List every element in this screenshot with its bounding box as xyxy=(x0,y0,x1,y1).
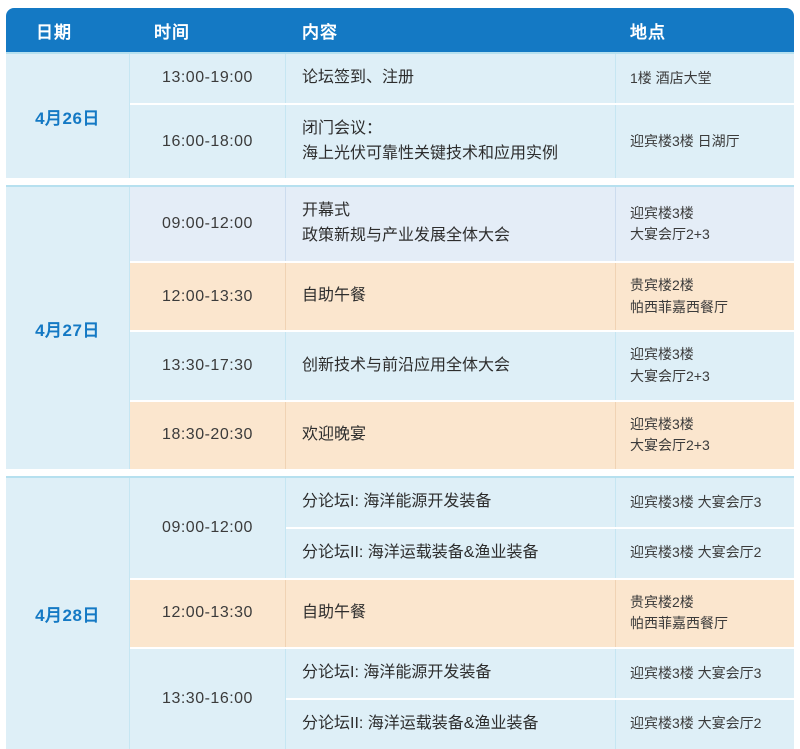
location-cell: 贵宾楼2楼 帕西菲嘉西餐厅 xyxy=(616,263,794,330)
schedule-row: 09:00-12:00开幕式 政策新规与产业发展全体大会迎宾楼3楼 大宴会厅2+… xyxy=(130,187,794,261)
session-row: 开幕式 政策新规与产业发展全体大会迎宾楼3楼 大宴会厅2+3 xyxy=(286,187,794,261)
content-label: 欢迎晚宴 xyxy=(302,423,366,448)
location-label: 贵宾楼2楼 帕西菲嘉西餐厅 xyxy=(630,275,728,318)
date-label: 4月26日 xyxy=(35,104,100,129)
column-header-time: 时间 xyxy=(130,18,286,43)
schedule-row: 18:30-20:30欢迎晚宴迎宾楼3楼 大宴会厅2+3 xyxy=(130,400,794,469)
time-label: 12:00-13:30 xyxy=(162,604,253,622)
location-cell: 迎宾楼3楼 大宴会厅3 xyxy=(616,649,794,698)
table-header-row: 日期 时间 内容 地点 xyxy=(6,8,794,52)
session-row: 分论坛I: 海洋能源开发装备迎宾楼3楼 大宴会厅3 xyxy=(286,649,794,698)
day-group: 4月27日09:00-12:00开幕式 政策新规与产业发展全体大会迎宾楼3楼 大… xyxy=(6,185,794,469)
time-label: 13:00-19:00 xyxy=(162,69,253,87)
date-cell: 4月28日 xyxy=(6,478,130,749)
session-list: 论坛签到、注册1楼 酒店大堂 xyxy=(286,54,794,103)
content-cell: 论坛签到、注册 xyxy=(286,54,616,103)
location-cell: 1楼 酒店大堂 xyxy=(616,54,794,103)
session-list: 分论坛I: 海洋能源开发装备迎宾楼3楼 大宴会厅3分论坛II: 海洋运载装备&渔… xyxy=(286,478,794,578)
time-cell: 09:00-12:00 xyxy=(130,478,286,578)
session-list: 欢迎晚宴迎宾楼3楼 大宴会厅2+3 xyxy=(286,402,794,469)
schedule-row: 13:00-19:00论坛签到、注册1楼 酒店大堂 xyxy=(130,54,794,103)
content-cell: 分论坛II: 海洋运载装备&渔业装备 xyxy=(286,529,616,578)
date-cell: 4月27日 xyxy=(6,187,130,469)
table-body: 4月26日13:00-19:00论坛签到、注册1楼 酒店大堂16:00-18:0… xyxy=(6,52,794,749)
time-cell: 16:00-18:00 xyxy=(130,105,286,179)
location-cell: 迎宾楼3楼 大宴会厅2+3 xyxy=(616,402,794,469)
content-cell: 闭门会议： 海上光伏可靠性关键技术和应用实例 xyxy=(286,105,616,179)
day-rows: 09:00-12:00分论坛I: 海洋能源开发装备迎宾楼3楼 大宴会厅3分论坛I… xyxy=(130,478,794,749)
column-header-date: 日期 xyxy=(6,18,130,43)
time-cell: 13:30-16:00 xyxy=(130,649,286,749)
day-rows: 13:00-19:00论坛签到、注册1楼 酒店大堂16:00-18:00闭门会议… xyxy=(130,54,794,178)
location-cell: 迎宾楼3楼 大宴会厅2 xyxy=(616,700,794,749)
location-cell: 迎宾楼3楼 大宴会厅2+3 xyxy=(616,187,794,261)
content-cell: 自助午餐 xyxy=(286,580,616,647)
location-label: 迎宾楼3楼 大宴会厅2+3 xyxy=(630,414,710,457)
content-cell: 分论坛II: 海洋运载装备&渔业装备 xyxy=(286,700,616,749)
location-cell: 贵宾楼2楼 帕西菲嘉西餐厅 xyxy=(616,580,794,647)
column-header-location: 地点 xyxy=(616,18,794,43)
schedule-table: 日期 时间 内容 地点 4月26日13:00-19:00论坛签到、注册1楼 酒店… xyxy=(0,8,800,748)
location-label: 迎宾楼3楼 大宴会厅3 xyxy=(630,663,761,685)
content-label: 论坛签到、注册 xyxy=(302,66,414,91)
time-label: 18:30-20:30 xyxy=(162,426,253,444)
location-label: 迎宾楼3楼 大宴会厅2 xyxy=(630,542,761,564)
schedule-row: 16:00-18:00闭门会议： 海上光伏可靠性关键技术和应用实例迎宾楼3楼 日… xyxy=(130,103,794,179)
session-list: 自助午餐贵宾楼2楼 帕西菲嘉西餐厅 xyxy=(286,263,794,330)
content-label: 自助午餐 xyxy=(302,284,366,309)
session-list: 自助午餐贵宾楼2楼 帕西菲嘉西餐厅 xyxy=(286,580,794,647)
session-row: 自助午餐贵宾楼2楼 帕西菲嘉西餐厅 xyxy=(286,263,794,330)
date-label: 4月28日 xyxy=(35,601,100,626)
time-label: 13:30-17:30 xyxy=(162,357,253,375)
content-label: 分论坛II: 海洋运载装备&渔业装备 xyxy=(302,712,538,737)
session-row: 分论坛I: 海洋能源开发装备迎宾楼3楼 大宴会厅3 xyxy=(286,478,794,527)
content-label: 创新技术与前沿应用全体大会 xyxy=(302,354,510,379)
session-list: 分论坛I: 海洋能源开发装备迎宾楼3楼 大宴会厅3分论坛II: 海洋运载装备&渔… xyxy=(286,649,794,749)
time-cell: 13:30-17:30 xyxy=(130,332,286,399)
content-cell: 分论坛I: 海洋能源开发装备 xyxy=(286,649,616,698)
session-row: 闭门会议： 海上光伏可靠性关键技术和应用实例迎宾楼3楼 日湖厅 xyxy=(286,105,794,179)
location-label: 迎宾楼3楼 日湖厅 xyxy=(630,131,740,153)
column-header-content: 内容 xyxy=(286,18,616,43)
content-cell: 分论坛I: 海洋能源开发装备 xyxy=(286,478,616,527)
location-label: 迎宾楼3楼 大宴会厅2+3 xyxy=(630,344,710,387)
session-list: 创新技术与前沿应用全体大会迎宾楼3楼 大宴会厅2+3 xyxy=(286,332,794,399)
content-cell: 创新技术与前沿应用全体大会 xyxy=(286,332,616,399)
content-label: 自助午餐 xyxy=(302,601,366,626)
session-row: 论坛签到、注册1楼 酒店大堂 xyxy=(286,54,794,103)
time-cell: 18:30-20:30 xyxy=(130,402,286,469)
day-rows: 09:00-12:00开幕式 政策新规与产业发展全体大会迎宾楼3楼 大宴会厅2+… xyxy=(130,187,794,469)
location-label: 迎宾楼3楼 大宴会厅3 xyxy=(630,492,761,514)
content-cell: 自助午餐 xyxy=(286,263,616,330)
location-cell: 迎宾楼3楼 大宴会厅2+3 xyxy=(616,332,794,399)
session-list: 闭门会议： 海上光伏可靠性关键技术和应用实例迎宾楼3楼 日湖厅 xyxy=(286,105,794,179)
session-row: 自助午餐贵宾楼2楼 帕西菲嘉西餐厅 xyxy=(286,580,794,647)
time-label: 16:00-18:00 xyxy=(162,133,253,151)
time-cell: 09:00-12:00 xyxy=(130,187,286,261)
session-row: 欢迎晚宴迎宾楼3楼 大宴会厅2+3 xyxy=(286,402,794,469)
date-cell: 4月26日 xyxy=(6,54,130,178)
content-label: 开幕式 政策新规与产业发展全体大会 xyxy=(302,199,510,249)
time-cell: 13:00-19:00 xyxy=(130,54,286,103)
time-cell: 12:00-13:30 xyxy=(130,580,286,647)
content-label: 分论坛II: 海洋运载装备&渔业装备 xyxy=(302,541,538,566)
location-label: 1楼 酒店大堂 xyxy=(630,68,712,90)
location-cell: 迎宾楼3楼 大宴会厅2 xyxy=(616,529,794,578)
location-label: 迎宾楼3楼 大宴会厅2 xyxy=(630,713,761,735)
session-row: 创新技术与前沿应用全体大会迎宾楼3楼 大宴会厅2+3 xyxy=(286,332,794,399)
day-group: 4月26日13:00-19:00论坛签到、注册1楼 酒店大堂16:00-18:0… xyxy=(6,52,794,178)
location-cell: 迎宾楼3楼 大宴会厅3 xyxy=(616,478,794,527)
content-cell: 开幕式 政策新规与产业发展全体大会 xyxy=(286,187,616,261)
location-label: 迎宾楼3楼 大宴会厅2+3 xyxy=(630,203,710,246)
time-label: 12:00-13:30 xyxy=(162,288,253,306)
time-label: 09:00-12:00 xyxy=(162,519,253,537)
session-row: 分论坛II: 海洋运载装备&渔业装备迎宾楼3楼 大宴会厅2 xyxy=(286,698,794,749)
schedule-row: 12:00-13:30自助午餐贵宾楼2楼 帕西菲嘉西餐厅 xyxy=(130,261,794,330)
schedule-row: 13:30-17:30创新技术与前沿应用全体大会迎宾楼3楼 大宴会厅2+3 xyxy=(130,330,794,399)
schedule-row: 09:00-12:00分论坛I: 海洋能源开发装备迎宾楼3楼 大宴会厅3分论坛I… xyxy=(130,478,794,578)
date-label: 4月27日 xyxy=(35,316,100,341)
day-group: 4月28日09:00-12:00分论坛I: 海洋能源开发装备迎宾楼3楼 大宴会厅… xyxy=(6,476,794,749)
session-list: 开幕式 政策新规与产业发展全体大会迎宾楼3楼 大宴会厅2+3 xyxy=(286,187,794,261)
schedule-row: 12:00-13:30自助午餐贵宾楼2楼 帕西菲嘉西餐厅 xyxy=(130,578,794,647)
time-label: 13:30-16:00 xyxy=(162,690,253,708)
time-label: 09:00-12:00 xyxy=(162,215,253,233)
content-label: 闭门会议： 海上光伏可靠性关键技术和应用实例 xyxy=(302,117,558,167)
location-cell: 迎宾楼3楼 日湖厅 xyxy=(616,105,794,179)
content-label: 分论坛I: 海洋能源开发装备 xyxy=(302,490,491,515)
schedule-row: 13:30-16:00分论坛I: 海洋能源开发装备迎宾楼3楼 大宴会厅3分论坛I… xyxy=(130,647,794,749)
session-row: 分论坛II: 海洋运载装备&渔业装备迎宾楼3楼 大宴会厅2 xyxy=(286,527,794,578)
time-cell: 12:00-13:30 xyxy=(130,263,286,330)
location-label: 贵宾楼2楼 帕西菲嘉西餐厅 xyxy=(630,592,728,635)
content-label: 分论坛I: 海洋能源开发装备 xyxy=(302,661,491,686)
content-cell: 欢迎晚宴 xyxy=(286,402,616,469)
